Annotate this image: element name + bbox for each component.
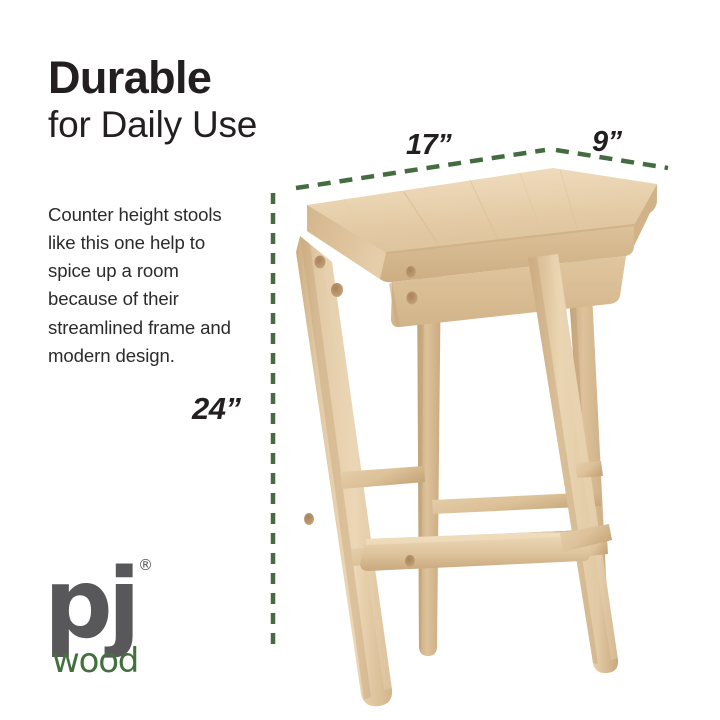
logo-wordmark-wood: wood (52, 644, 138, 678)
infographic-canvas: Durable for Daily Use Counter height sto… (0, 0, 720, 720)
description-paragraph: Counter height stools like this one help… (48, 201, 253, 371)
headline-primary: Durable (48, 55, 378, 101)
page-title: Durable for Daily Use (48, 55, 378, 147)
stool-front-stretcher (360, 530, 590, 571)
brand-logo: pj ® wood (44, 556, 214, 686)
logo-mark-pj: pj (44, 556, 136, 652)
headline-secondary: for Daily Use (48, 103, 378, 147)
registered-trademark-icon: ® (138, 558, 153, 573)
dimension-label-width: 17” (406, 131, 451, 160)
dimension-label-height: 24” (192, 393, 240, 424)
dimension-label-depth: 9” (592, 128, 622, 157)
